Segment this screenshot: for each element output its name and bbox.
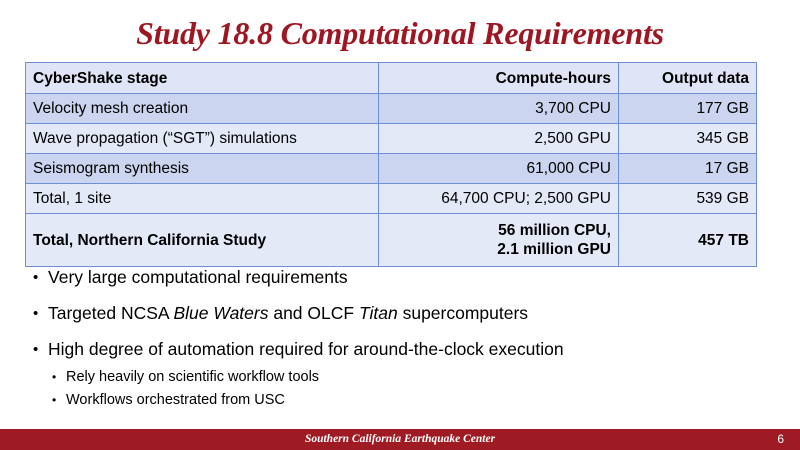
table-header-row: CyberShake stage Compute-hours Output da… xyxy=(26,63,757,94)
cell-compute-hours: 61,000 CPU xyxy=(379,154,619,184)
table-total-row: Total, Northern California Study 56 mill… xyxy=(26,214,757,267)
cell-output-data: 539 GB xyxy=(619,184,757,214)
bullet-dot-icon: • xyxy=(33,267,38,288)
list-item: • Very large computational requirements xyxy=(31,267,771,288)
sub-bullet-list: • Rely heavily on scientific workflow to… xyxy=(31,368,771,409)
cell-total-stage: Total, Northern California Study xyxy=(26,214,379,267)
list-item-emphasis-titan: Titan xyxy=(359,303,398,323)
column-header-output-data: Output data xyxy=(619,63,757,94)
page-title: Study 18.8 Computational Requirements xyxy=(0,14,800,52)
requirements-table: CyberShake stage Compute-hours Output da… xyxy=(25,62,757,267)
slide-page-number: 6 xyxy=(777,432,784,447)
list-item-text-mid: and OLCF xyxy=(268,303,358,323)
column-header-compute-hours: Compute-hours xyxy=(379,63,619,94)
cell-output-data: 345 GB xyxy=(619,124,757,154)
bullet-list: • Very large computational requirements … xyxy=(31,267,771,414)
cell-output-data: 17 GB xyxy=(619,154,757,184)
bullet-dot-icon: • xyxy=(33,339,38,360)
bullet-dot-icon: • xyxy=(33,303,38,324)
sub-list-item: • Workflows orchestrated from USC xyxy=(49,391,771,409)
footer-organization: Southern California Earthquake Center xyxy=(0,432,800,447)
table-row: Velocity mesh creation 3,700 CPU 177 GB xyxy=(26,94,757,124)
list-item-label: High degree of automation required for a… xyxy=(48,339,564,359)
cell-compute-hours: 64,700 CPU; 2,500 GPU xyxy=(379,184,619,214)
sub-list-item-label: Workflows orchestrated from USC xyxy=(66,392,285,408)
cell-total-compute-hours: 56 million CPU, 2.1 million GPU xyxy=(379,214,619,267)
cell-stage: Seismogram synthesis xyxy=(26,154,379,184)
cell-compute-hours: 2,500 GPU xyxy=(379,124,619,154)
table-row: Wave propagation (“SGT”) simulations 2,5… xyxy=(26,124,757,154)
cell-output-data: 177 GB xyxy=(619,94,757,124)
list-item-label: Very large computational requirements xyxy=(48,267,348,287)
cell-stage: Total, 1 site xyxy=(26,184,379,214)
footer-bar: Southern California Earthquake Center 6 xyxy=(0,429,800,450)
slide-canvas: Study 18.8 Computational Requirements Cy… xyxy=(0,0,800,450)
table-row: Total, 1 site 64,700 CPU; 2,500 GPU 539 … xyxy=(26,184,757,214)
column-header-stage: CyberShake stage xyxy=(26,63,379,94)
list-item: • Targeted NCSA Blue Waters and OLCF Tit… xyxy=(31,303,771,324)
total-compute-line-2: 2.1 million GPU xyxy=(386,240,611,259)
sub-list-item-label: Rely heavily on scientific workflow tool… xyxy=(66,369,319,385)
list-item: • High degree of automation required for… xyxy=(31,339,771,360)
total-compute-line-1: 56 million CPU, xyxy=(386,221,611,240)
cell-stage: Wave propagation (“SGT”) simulations xyxy=(26,124,379,154)
bullet-dot-icon: • xyxy=(52,368,56,386)
list-item-text-pre: Targeted NCSA xyxy=(48,303,173,323)
cell-total-output-data: 457 TB xyxy=(619,214,757,267)
sub-list-item: • Rely heavily on scientific workflow to… xyxy=(49,368,771,386)
list-item-text-post: supercomputers xyxy=(398,303,528,323)
table-row: Seismogram synthesis 61,000 CPU 17 GB xyxy=(26,154,757,184)
cell-stage: Velocity mesh creation xyxy=(26,94,379,124)
cell-compute-hours: 3,700 CPU xyxy=(379,94,619,124)
list-item-emphasis-blue-waters: Blue Waters xyxy=(173,303,268,323)
bullet-dot-icon: • xyxy=(52,391,56,409)
requirements-table-container: CyberShake stage Compute-hours Output da… xyxy=(25,62,756,267)
